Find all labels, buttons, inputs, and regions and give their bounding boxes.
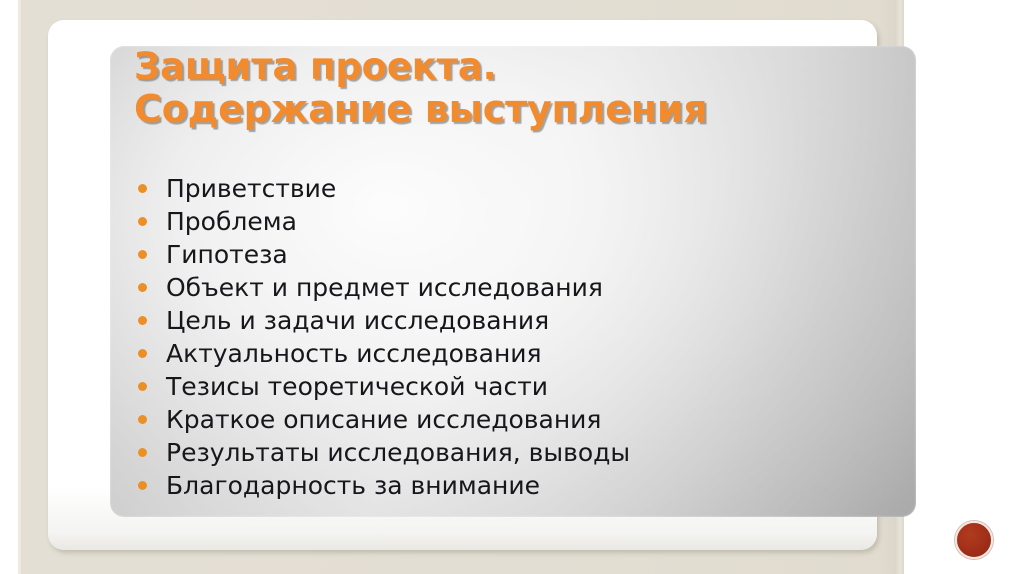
list-item-label: Тезисы теоретической части	[166, 372, 548, 402]
list-item: Приветствие	[138, 172, 878, 205]
slide-title-line-2: Содержание выступления	[134, 88, 834, 130]
list-item-label: Актуальность исследования	[166, 339, 542, 369]
list-item-label: Объект и предмет исследования	[166, 273, 603, 303]
backdrop-left-seam	[18, 0, 21, 574]
list-item: Объект и предмет исследования	[138, 271, 878, 304]
list-item: Краткое описание исследования	[138, 403, 878, 436]
list-item: Актуальность исследования	[138, 337, 878, 370]
slide-bullet-list: Приветствие Проблема Гипотеза Объект и п…	[138, 172, 878, 502]
list-item: Цель и задачи исследования	[138, 304, 878, 337]
slide-card: Защита проекта. Содержание выступления П…	[48, 20, 877, 550]
list-item-label: Результаты исследования, выводы	[166, 438, 630, 468]
list-item: Гипотеза	[138, 238, 878, 271]
bullet-dot-icon	[138, 217, 147, 226]
bullet-dot-icon	[138, 448, 147, 457]
slide-title: Защита проекта. Содержание выступления	[134, 46, 834, 130]
brand-seal-label	[957, 523, 991, 557]
bullet-dot-icon	[138, 382, 147, 391]
slide-title-line-1: Защита проекта.	[134, 46, 834, 88]
bullet-dot-icon	[138, 184, 147, 193]
bullet-dot-icon	[138, 415, 147, 424]
bullet-dot-icon	[138, 349, 147, 358]
list-item-label: Проблема	[166, 207, 297, 237]
list-item-label: Гипотеза	[166, 240, 288, 270]
slide-stage: Защита проекта. Содержание выступления П…	[0, 0, 1024, 574]
bullet-dot-icon	[138, 481, 147, 490]
list-item-label: Краткое описание исследования	[166, 405, 601, 435]
list-item: Проблема	[138, 205, 878, 238]
bullet-dot-icon	[138, 283, 147, 292]
list-item: Тезисы теоретической части	[138, 370, 878, 403]
list-item-label: Цель и задачи исследования	[166, 306, 549, 336]
bullet-dot-icon	[138, 250, 147, 259]
brand-seal-icon	[955, 521, 993, 559]
list-item-label: Приветствие	[166, 174, 336, 204]
bullet-dot-icon	[138, 316, 147, 325]
list-item: Благодарность за внимание	[138, 469, 878, 502]
list-item-label: Благодарность за внимание	[166, 471, 540, 501]
list-item: Результаты исследования, выводы	[138, 436, 878, 469]
